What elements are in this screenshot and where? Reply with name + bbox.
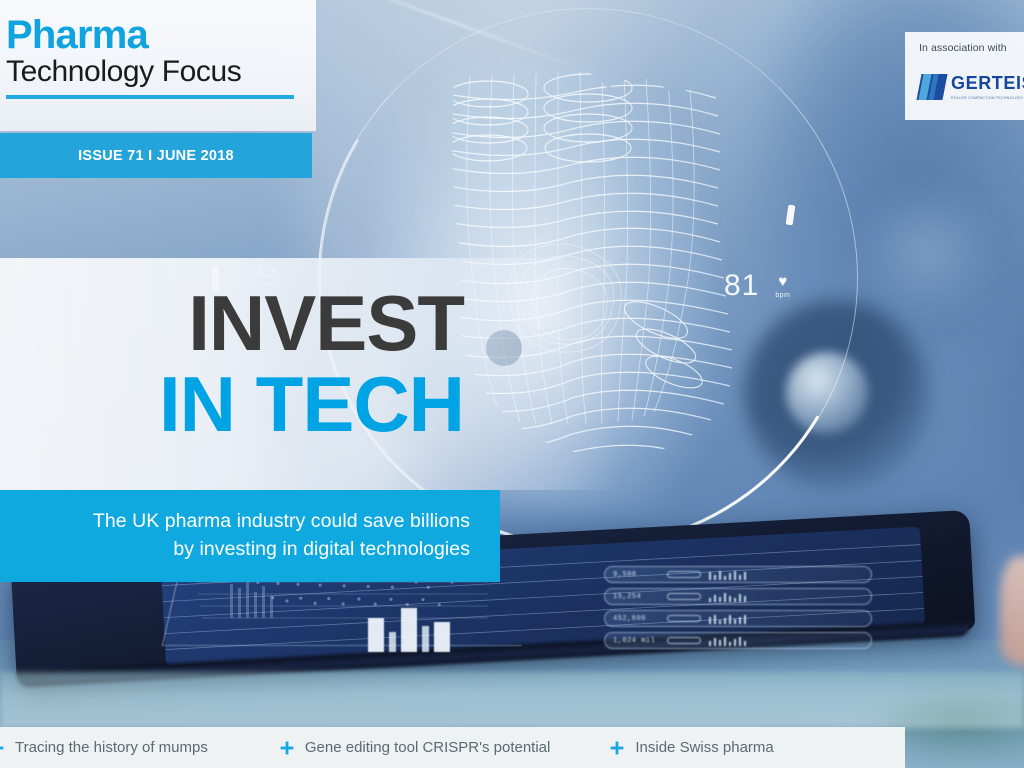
gerteis-wordmark-group: GERTEIS ROLLER COMPACTION TECHNOLOGY [951, 74, 1024, 100]
plus-icon [0, 741, 4, 755]
heart-icon: ♥ [778, 274, 787, 289]
holo-row-bars [709, 636, 746, 646]
holo-row: 15,254 [604, 588, 872, 605]
issue-band: ISSUE 71 I JUNE 2018 [0, 133, 312, 178]
heart-rate-readout: 81 ♥ bpm [724, 271, 790, 301]
holographic-white-bars [368, 608, 450, 652]
subtitle-line-2: by investing in digital technologies [173, 536, 470, 564]
partner-name: GERTEIS [951, 73, 1024, 93]
bpm-value: 81 [724, 271, 759, 301]
partner-tagline: ROLLER COMPACTION TECHNOLOGY [951, 96, 1024, 100]
holo-row: 9,500 [604, 566, 872, 583]
brand-name-secondary: Technology Focus [6, 54, 316, 89]
holo-row-value: 452,600 [613, 615, 659, 623]
association-label: In association with [919, 42, 1024, 54]
plus-icon [280, 741, 294, 755]
teaser-item-1[interactable]: Tracing the history of mumps [0, 739, 208, 756]
brand-name-primary: Pharma [6, 14, 316, 56]
holo-row-pill [667, 615, 701, 622]
issue-label: ISSUE 71 I JUNE 2018 [78, 148, 234, 164]
bokeh-highlight-upper [866, 176, 986, 326]
holo-row-bars [709, 592, 746, 602]
holographic-grid [188, 578, 508, 640]
holo-row-pill [667, 593, 701, 600]
plus-icon [610, 741, 624, 755]
teaser-label: Inside Swiss pharma [635, 739, 773, 756]
cover-headline: INVEST IN TECH [0, 288, 500, 442]
holo-row-pill [667, 571, 701, 578]
teaser-label: Gene editing tool CRISPR's potential [305, 739, 551, 756]
teaser-item-3[interactable]: Inside Swiss pharma [610, 739, 773, 756]
holo-row-bars [709, 614, 746, 624]
magazine-cover: 81 ♥ bpm PULSE WAVE [0, 0, 1024, 768]
glass-table-reflection [0, 672, 1024, 728]
holo-row-bars [709, 570, 746, 580]
partner-logo[interactable]: GERTEIS ROLLER COMPACTION TECHNOLOGY [919, 74, 1024, 100]
holo-row-value: 15,254 [613, 593, 659, 601]
headline-line-2: IN TECH [0, 366, 464, 442]
gerteis-logo-icon [916, 74, 947, 100]
teaser-bar: Tracing the history of mumps Gene editin… [0, 727, 905, 768]
holographic-data-rows: 9,500 15,254 452,600 1,024 mil [604, 566, 894, 652]
teaser-item-2[interactable]: Gene editing tool CRISPR's potential [280, 739, 551, 756]
holo-row: 1,024 mil [604, 632, 872, 649]
bpm-icon-group: ♥ bpm [775, 274, 790, 299]
teaser-label: Tracing the history of mumps [15, 739, 208, 756]
holo-row-value: 9,500 [613, 571, 659, 579]
cover-subtitle-box: The UK pharma industry could save billio… [0, 490, 500, 582]
bpm-unit-label: bpm [775, 292, 790, 299]
masthead-rule [6, 95, 294, 99]
masthead: Pharma Technology Focus [0, 0, 316, 131]
headline-line-1: INVEST [0, 288, 464, 360]
subtitle-line-1: The UK pharma industry could save billio… [93, 508, 470, 536]
holo-row-pill [667, 637, 701, 644]
holo-row: 452,600 [604, 610, 872, 627]
hand-finger [1000, 556, 1024, 666]
association-box: In association with GERTEIS ROLLER COMPA… [905, 32, 1024, 120]
holo-row-value: 1,024 mil [613, 637, 659, 645]
